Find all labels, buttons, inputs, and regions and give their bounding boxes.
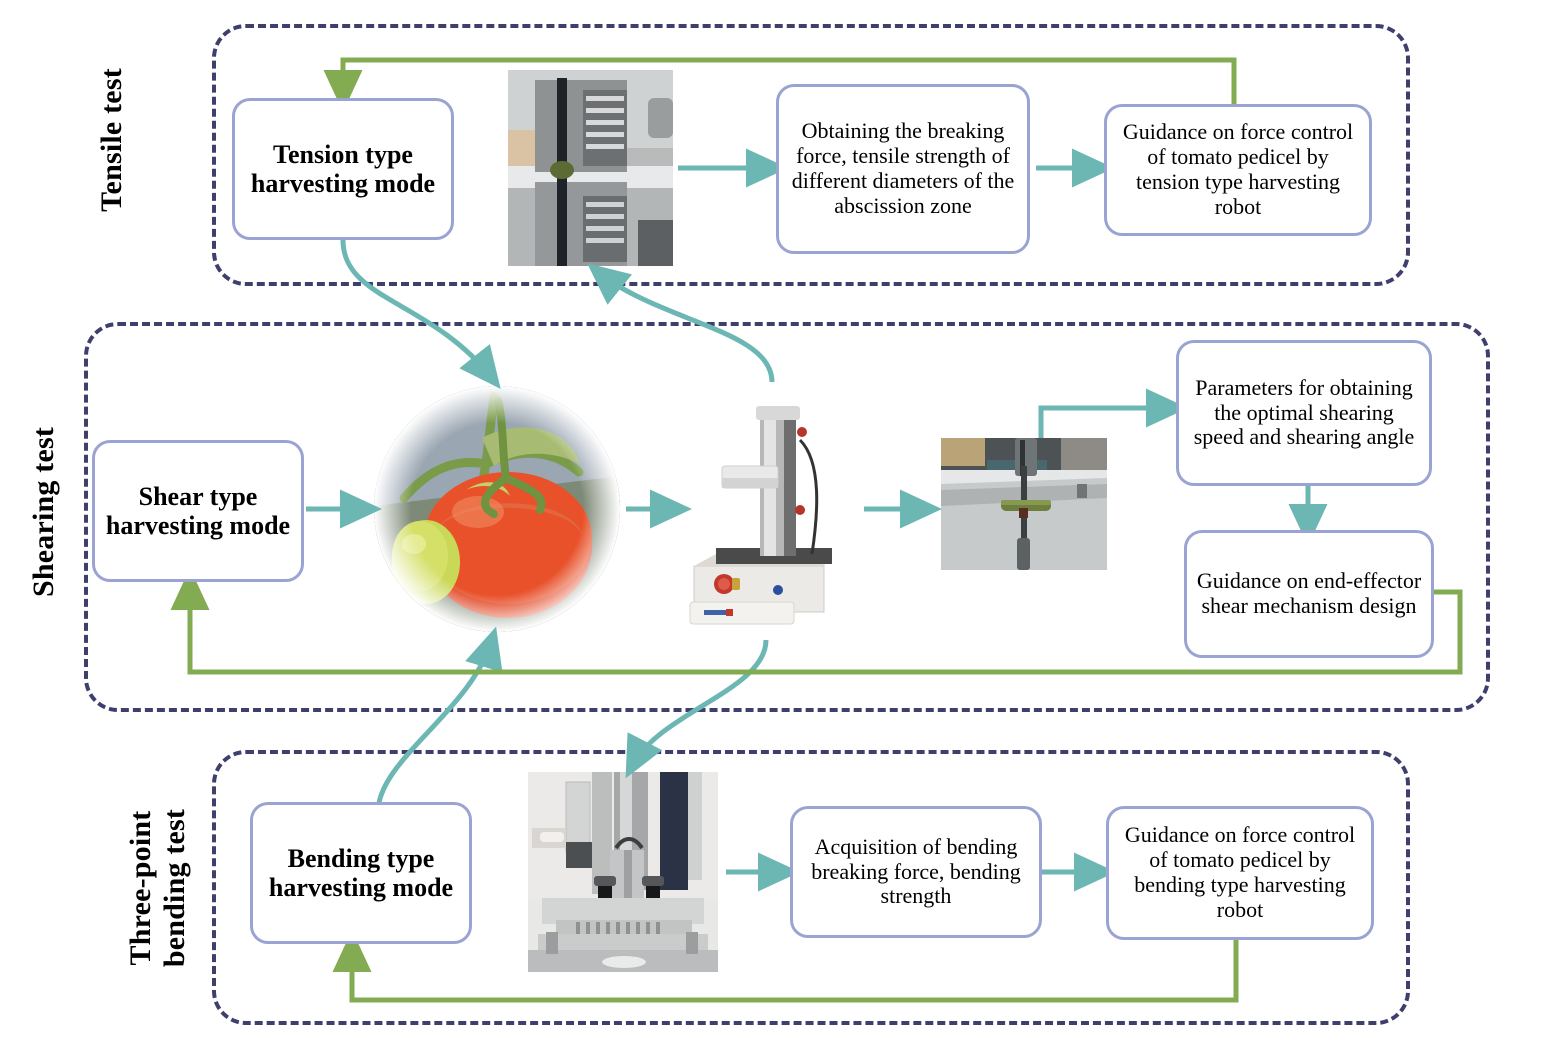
node-shear-params[interactable]: Parameters for obtaining the optimal she…	[1176, 340, 1432, 486]
node-tensile-guidance[interactable]: Guidance on force control of tomato pedi…	[1104, 104, 1372, 236]
section-label-shearing: Shearing test	[27, 382, 61, 642]
section-label-bending: Three-point bending test	[124, 738, 196, 1038]
flow-diagram: Tensile test Shearing test Three-point b…	[0, 0, 1548, 1051]
node-bending-result[interactable]: Acquisition of bending breaking force, b…	[790, 806, 1042, 938]
node-tension-mode[interactable]: Tension type harvesting mode	[232, 98, 454, 240]
node-tensile-result[interactable]: Obtaining the breaking force, tensile st…	[776, 84, 1030, 254]
node-bending-mode[interactable]: Bending type harvesting mode	[250, 802, 472, 944]
shear-blade-image	[941, 438, 1107, 570]
node-shear-guidance[interactable]: Guidance on end-effector shear mechanism…	[1184, 530, 1434, 658]
tomato-image	[374, 386, 620, 632]
testing-machine-image	[686, 388, 832, 632]
bending-rig-image	[528, 772, 718, 972]
tensile-grip-image	[508, 70, 673, 266]
section-label-tensile: Tensile test	[95, 30, 129, 250]
node-shear-mode[interactable]: Shear type harvesting mode	[92, 440, 304, 582]
node-bending-guidance[interactable]: Guidance on force control of tomato pedi…	[1106, 806, 1374, 940]
